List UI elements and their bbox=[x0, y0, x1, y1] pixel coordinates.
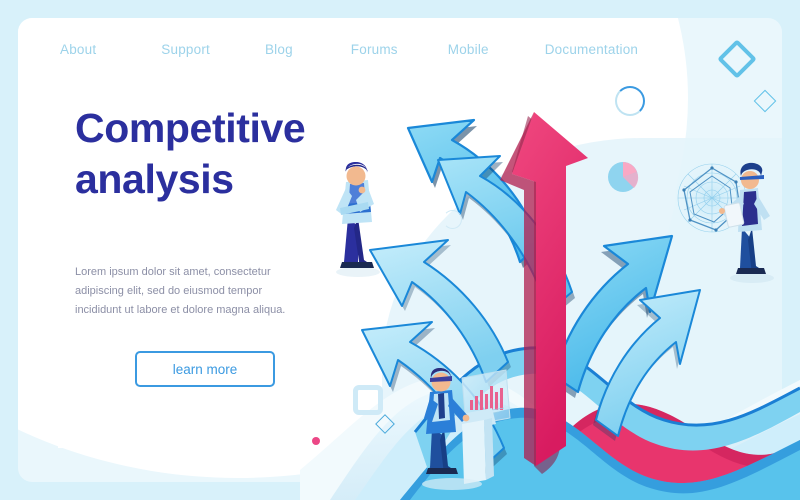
hero-description: Lorem ipsum dolor sit amet, consectetur … bbox=[75, 263, 303, 320]
nav-item-blog[interactable]: Blog bbox=[265, 42, 293, 57]
nav-item-about[interactable]: About bbox=[60, 42, 96, 57]
nav-item-documentation[interactable]: Documentation bbox=[545, 42, 638, 57]
nav-item-forums[interactable]: Forums bbox=[351, 42, 398, 57]
circle-outline-icon bbox=[615, 86, 645, 116]
hero-card bbox=[18, 18, 782, 482]
rounded-square-outline-icon bbox=[353, 385, 383, 415]
learn-more-button[interactable]: learn more bbox=[135, 351, 275, 387]
page-title: Competitive analysis bbox=[75, 103, 375, 205]
nav-item-mobile[interactable]: Mobile bbox=[448, 42, 489, 57]
nav-item-support[interactable]: Support bbox=[161, 42, 210, 57]
landing-page: About Support Blog Forums Mobile Documen… bbox=[0, 0, 800, 500]
hero-content: Competitive analysis Lorem ipsum dolor s… bbox=[75, 103, 375, 205]
open-ring-icon bbox=[443, 210, 462, 229]
pink-dot-icon bbox=[312, 437, 320, 445]
main-navigation: About Support Blog Forums Mobile Documen… bbox=[60, 42, 638, 57]
